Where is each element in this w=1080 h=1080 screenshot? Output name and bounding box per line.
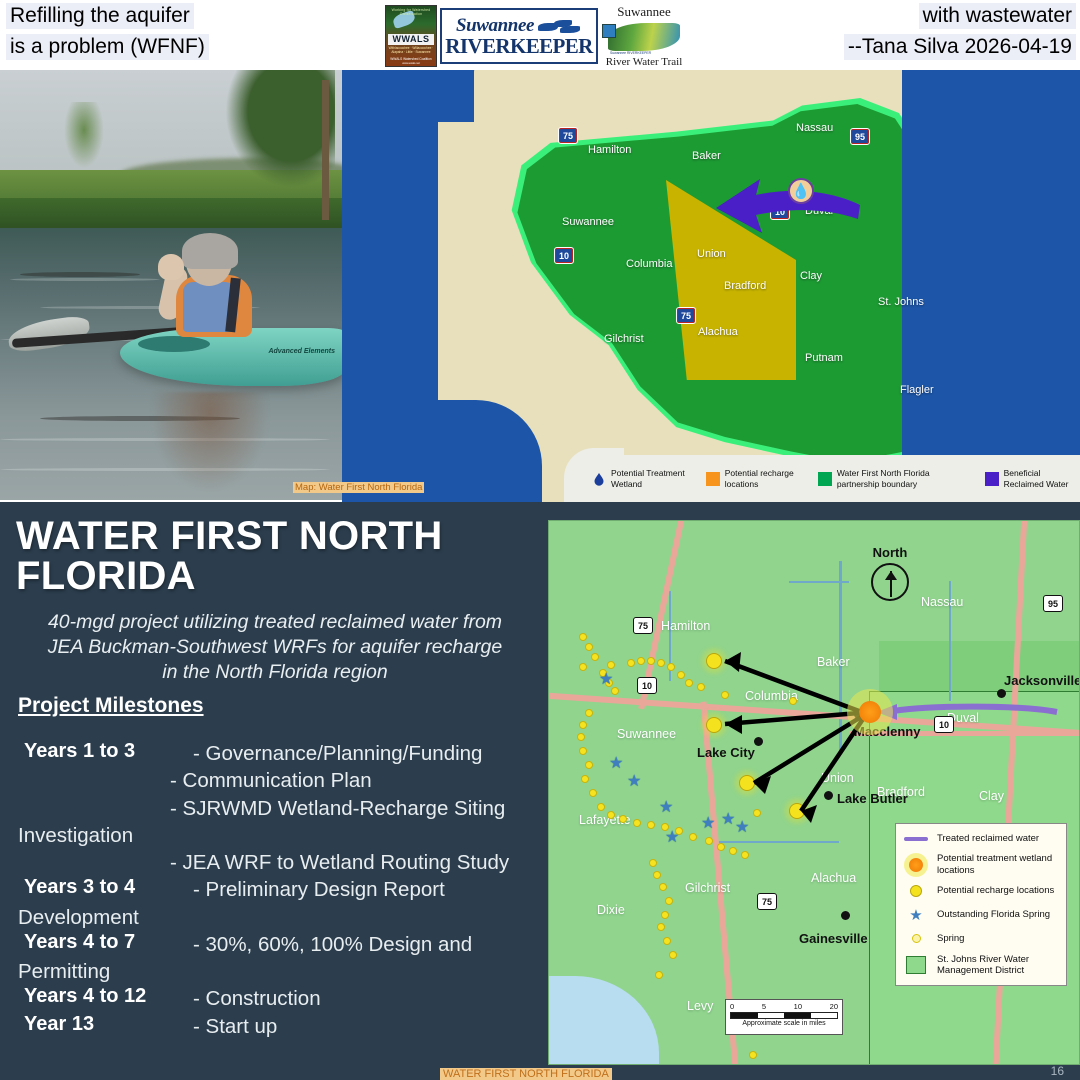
map2-recharge-location (706, 653, 722, 669)
map2-recharge-location (706, 717, 722, 733)
map2-county-gilchrist: Gilchrist (685, 881, 730, 895)
map2-city-lakecity: Lake City (697, 745, 755, 760)
kayak-brand-text: Advanced Elements (268, 348, 335, 355)
photo-sapling (62, 102, 106, 172)
milestone-item: - Start up (18, 1013, 538, 1040)
trail-logo-bottom-words: River Water Trail (606, 56, 683, 68)
map2-county-alachua: Alachua (811, 871, 856, 885)
square-swatch-icon (818, 472, 832, 486)
bass-fish-icon (608, 23, 680, 51)
water-drop-icon (592, 472, 606, 486)
milestone-row: Years 1 to 3 - Governance/Planning/Fundi… (18, 740, 538, 876)
map2-county-clay: Clay (979, 789, 1004, 803)
map1-credit-caption: Map: Water First North Florida (293, 482, 424, 493)
header-right-line2: --Tana Silva 2026-04-19 (844, 34, 1076, 60)
milestones-heading: Project Milestones (18, 694, 204, 718)
scale-tick-3: 20 (830, 1002, 838, 1011)
map1-county-putnam: Putnam (805, 352, 843, 364)
blue-star-icon: ★ (903, 906, 929, 924)
map2-highway-shield-75: 75 (633, 617, 653, 634)
map1-legend-item-boundary: Water First North Florida partnership bo… (818, 468, 969, 489)
north-florida-partnership-map: 75 10 95 10 75 Hamilton Baker Nassau Suw… (342, 70, 1080, 502)
map1-legend: Potential Treatment Wetland Potential re… (570, 455, 1080, 502)
map2-county-nassau: Nassau (921, 595, 963, 609)
header-right-line1: with wastewater (919, 3, 1076, 29)
square-swatch-icon (985, 472, 999, 486)
map2-legend-label-4: Spring (937, 933, 964, 944)
map1-county-hamilton: Hamilton (588, 144, 631, 156)
map1-highway-shield-75b: 75 (676, 307, 696, 324)
map2-outstanding-spring-star: ★ (609, 753, 623, 773)
map2-city-macclenny: Macclenny (854, 724, 920, 739)
trail-logo-top-word: Suwannee (617, 4, 670, 20)
milestone-years: Years 3 to 4 (24, 876, 135, 899)
suwannee-river-water-trail-logo: Suwannee Suwannee RIVERKEEPER River Wate… (601, 4, 687, 68)
map1-county-columbia: Columbia (626, 258, 672, 270)
photo-tree-trunk (322, 80, 329, 220)
map1-legend-label-1: Potential recharge locations (725, 468, 802, 489)
photo-tree-canopy (225, 70, 335, 188)
paddler-waving-hand (158, 254, 184, 280)
header-bar: Refilling the aquifer is a problem (WFNF… (0, 0, 1080, 72)
milestone-item: - SJRWMD Wetland-Recharge Siting Investi… (18, 795, 538, 850)
purple-line-icon (903, 837, 929, 841)
map2-legend-label-2: Potential recharge locations (937, 885, 1054, 896)
map2-outstanding-spring-star: ★ (627, 771, 641, 791)
scale-tick-1: 5 (762, 1002, 766, 1011)
map2-gulf-of-mexico (548, 976, 659, 1065)
wwals-logo-name: WWALS (388, 34, 434, 45)
map1-county-suwannee: Suwannee (562, 216, 614, 228)
map2-recharge-location (789, 803, 805, 819)
slide-footer-banner: WATER FIRST NORTH FLORIDA (440, 1068, 612, 1080)
header-left-line2: is a problem (WFNF) (6, 34, 209, 60)
map2-legend-item-spring: Spring (903, 933, 1059, 944)
north-arrow-icon (871, 563, 909, 601)
milestone-years: Years 1 to 3 (24, 740, 135, 763)
wwals-logo-url: www.wwals.net (387, 62, 435, 65)
yellow-dot-icon (903, 885, 929, 897)
paddler-hair (182, 233, 238, 269)
riverkeeper-word-riverkeeper: RIVERKEEPER (445, 37, 592, 57)
map1-legend-item-recharge: Potential recharge locations (706, 468, 802, 489)
map2-outstanding-spring-star: ★ (659, 797, 673, 817)
logo-group: Working for Watershed Conservation WWALS… (385, 4, 695, 68)
slide-subtitle: 40-mgd project utilizing treated reclaim… (40, 610, 510, 684)
map2-reclaimed-water-arrow (871, 703, 1061, 721)
riverkeeper-fish-icon (538, 20, 582, 33)
map2-legend-item-outstanding-spring: ★ Outstanding Florida Spring (903, 906, 1059, 924)
wwals-logo-tagline: Working for Watershed Conservation (386, 8, 436, 16)
map1-legend-item-treatment-wetland: Potential Treatment Wetland (592, 468, 690, 489)
map1-county-nassau: Nassau (796, 122, 833, 134)
map2-county-union: Union (821, 771, 854, 785)
map2-county-suwannee: Suwannee (617, 727, 676, 741)
map1-county-alachua: Alachua (698, 326, 738, 338)
map2-county-levy: Levy (687, 999, 713, 1013)
milestone-row: Years 4 to 7 - 30%, 60%, 100% Design and… (18, 931, 538, 986)
map2-city-jacksonville: Jacksonville (1004, 673, 1080, 688)
map2-outstanding-spring-star: ★ (665, 827, 679, 847)
milestone-years: Year 13 (24, 1013, 94, 1036)
trail-logo-mid-word: Suwannee RIVERKEEPER (610, 51, 651, 55)
kayak-photo: Advanced Elements (0, 70, 342, 500)
milestone-item: - Communication Plan (18, 767, 538, 794)
scale-caption: Approximate scale in miles (730, 1020, 838, 1027)
wwals-logo-footer: WWALS Watershed Coalition (387, 57, 435, 61)
map1-county-flagler: Flagler (900, 384, 934, 396)
map2-legend-label-1: Potential treatment wetland locations (937, 853, 1059, 876)
map2-legend-label-3: Outstanding Florida Spring (937, 909, 1050, 920)
project-location-map: 75 10 95 10 75 Hamilton Baker Nassau Col… (548, 520, 1080, 1065)
scale-tick-0: 0 (730, 1002, 734, 1011)
trail-badge-icon (602, 24, 616, 38)
map2-city-dot-gainesville (841, 911, 850, 920)
map1-legend-item-reclaimed: Beneficial Reclaimed Water (985, 468, 1080, 489)
map1-legend-label-0: Potential Treatment Wetland (611, 468, 690, 489)
map2-outstanding-spring-star: ★ (701, 813, 715, 833)
slide-screenshot: Refilling the aquifer is a problem (WFNF… (0, 0, 1080, 1080)
map1-county-union: Union (697, 248, 726, 260)
map2-city-gainesville: Gainesville (799, 931, 868, 946)
map2-city-dot-lakecity (754, 737, 763, 746)
map2-legend-item-treated-water: Treated reclaimed water (903, 833, 1059, 844)
map2-city-lakebutler: Lake Butler (837, 791, 908, 806)
map2-county-hamilton: Hamilton (661, 619, 710, 633)
milestone-years: Years 4 to 12 (24, 985, 146, 1008)
map2-legend: Treated reclaimed water Potential treatm… (895, 823, 1067, 986)
map2-highway-shield-10: 10 (637, 677, 657, 694)
scale-bar-graphic (730, 1012, 838, 1019)
milestone-years: Years 4 to 7 (24, 931, 135, 954)
map2-legend-item-recharge: Potential recharge locations (903, 885, 1059, 897)
map2-city-dot-lakebutler (824, 791, 833, 800)
milestones-list: Years 1 to 3 - Governance/Planning/Fundi… (18, 740, 538, 1040)
map2-scale-bar: 0 5 10 20 Approximate scale in miles (725, 999, 843, 1035)
page-number: 16 (1051, 1064, 1064, 1078)
map1-reclaimed-water-arrow (712, 175, 862, 245)
map1-highway-shield-10: 10 (554, 247, 574, 264)
map2-highway-shield-75b: 75 (757, 893, 777, 910)
orange-glow-dot-icon (903, 858, 929, 872)
map2-recharge-location (739, 775, 755, 791)
map1-legend-label-3: Beneficial Reclaimed Water (1004, 468, 1080, 489)
map1-highway-shield-95: 95 (850, 128, 870, 145)
map2-legend-label-5: St. Johns River Water Management Distric… (937, 954, 1059, 977)
map1-county-gilchrist: Gilchrist (604, 333, 644, 345)
map1-treatment-wetland-drop-icon: 💧 (788, 178, 814, 204)
map1-highway-shield-75: 75 (558, 127, 578, 144)
page-title: WATER FIRST NORTH FLORIDA (16, 516, 516, 596)
map2-treatment-wetland-location (859, 701, 881, 723)
milestone-row: Years 3 to 4 - Preliminary Design Report… (18, 876, 538, 931)
map2-county-dixie: Dixie (597, 903, 625, 917)
map2-city-dot-jacksonville (997, 689, 1006, 698)
map2-outstanding-spring-star: ★ (735, 817, 749, 837)
north-arrow: North (871, 545, 909, 601)
map2-legend-label-0: Treated reclaimed water (937, 833, 1039, 844)
map2-legend-item-sjrwmd: St. Johns River Water Management Distric… (903, 954, 1059, 977)
map1-county-stjohns: St. Johns (878, 296, 924, 308)
map1-legend-label-2: Water First North Florida partnership bo… (837, 468, 969, 489)
map1-county-baker: Baker (692, 150, 721, 162)
small-yellow-circle-icon (903, 934, 929, 943)
map2-legend-item-treatment-wetland: Potential treatment wetland locations (903, 853, 1059, 876)
wwals-logo-subtitle: Withlacoochee · Willacoochee · Alapaha ·… (387, 46, 435, 54)
photo-reflection (150, 392, 270, 492)
milestone-row: Year 13 - Start up (18, 1013, 538, 1040)
header-left-line1: Refilling the aquifer (6, 3, 194, 29)
map2-outstanding-spring-star: ★ (599, 669, 613, 689)
suwannee-riverkeeper-logo: Suwannee RIVERKEEPER (440, 8, 598, 64)
map1-atlantic-ocean (902, 70, 1080, 502)
north-label: North (871, 545, 909, 560)
square-swatch-icon (706, 472, 720, 486)
wwals-logo-icon: Working for Watershed Conservation WWALS… (385, 5, 437, 67)
map2-highway-shield-95: 95 (1043, 595, 1063, 612)
map2-outstanding-spring-star: ★ (721, 809, 735, 829)
milestone-row: Years 4 to 12 - Construction (18, 985, 538, 1012)
map1-county-clay: Clay (800, 270, 822, 282)
kayak-cockpit (138, 336, 210, 352)
milestone-item: - JEA WRF to Wetland Routing Study (18, 849, 538, 876)
green-square-icon (903, 956, 929, 974)
map1-county-bradford: Bradford (724, 280, 766, 292)
scale-tick-2: 10 (794, 1002, 802, 1011)
map2-county-baker: Baker (817, 655, 850, 669)
